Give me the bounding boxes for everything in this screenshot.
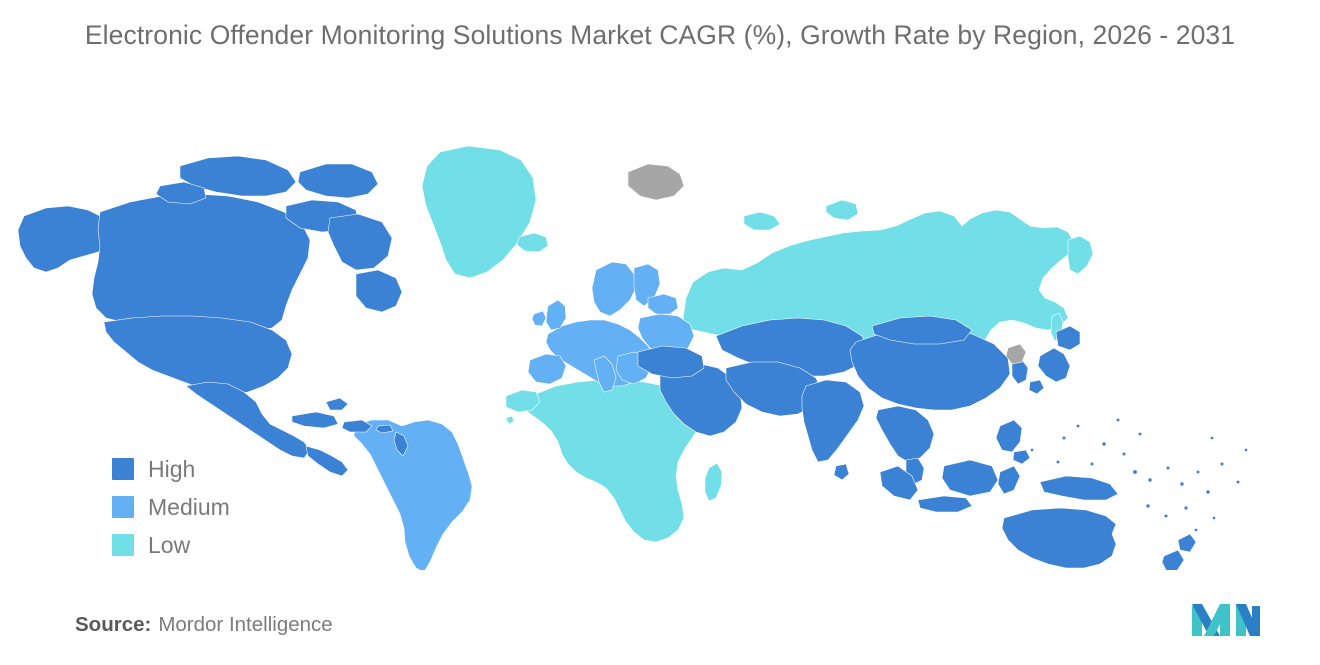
- page-title: Electronic Offender Monitoring Solutions…: [30, 14, 1290, 56]
- region-iberia: [528, 354, 566, 384]
- region-canada-arctic-2: [298, 164, 378, 198]
- legend-label-medium: Medium: [148, 496, 230, 519]
- region-russia-northisles: [744, 212, 780, 230]
- region-united-states: [104, 316, 292, 394]
- region-canada: [92, 194, 310, 330]
- region-canary-islands: [506, 416, 514, 424]
- region-canada-baffin: [328, 214, 392, 270]
- source-label: Source:: [75, 613, 151, 636]
- region-scandinavia: [592, 262, 636, 316]
- region-sulawesi: [998, 466, 1020, 494]
- region-new-zealand-south: [1162, 550, 1184, 570]
- region-russia-kamchatka: [1068, 236, 1093, 274]
- legend-item-high: High: [112, 450, 342, 488]
- region-madagascar: [705, 463, 722, 501]
- region-mexico: [186, 382, 310, 458]
- region-ireland: [532, 311, 546, 326]
- region-philippines-mindanao: [1013, 450, 1030, 464]
- region-canada-hudson-e: [356, 270, 402, 312]
- source-attribution: Source:Mordor Intelligence: [75, 613, 333, 637]
- region-india: [802, 380, 864, 462]
- region-new-guinea: [1040, 476, 1118, 500]
- region-greenland: [422, 146, 536, 278]
- region-japan-honshu: [1038, 348, 1070, 382]
- region-baltics: [648, 294, 678, 314]
- region-russia-novaya: [826, 200, 858, 220]
- region-new-zealand-north: [1178, 534, 1196, 552]
- region-sri-lanka: [834, 464, 849, 480]
- legend-label-high: High: [148, 458, 195, 481]
- region-south-america: [354, 420, 472, 570]
- region-australia: [1002, 508, 1116, 568]
- map-legend: High Medium Low: [112, 450, 342, 564]
- legend-label-low: Low: [148, 534, 190, 557]
- logo-svg: [1190, 598, 1262, 638]
- region-cuba: [292, 412, 338, 428]
- region-borneo: [942, 460, 998, 496]
- region-bahamas: [326, 398, 348, 410]
- mordor-intelligence-logo: [1190, 598, 1262, 638]
- region-japan-kyushu: [1029, 380, 1044, 394]
- region-svalbard: [628, 164, 684, 200]
- legend-item-low: Low: [112, 526, 342, 564]
- source-value: Mordor Intelligence: [158, 613, 332, 636]
- legend-swatch-low-icon: [112, 534, 134, 556]
- legend-swatch-medium-icon: [112, 496, 134, 518]
- region-java: [918, 496, 972, 512]
- legend-swatch-high-icon: [112, 458, 134, 480]
- legend-item-medium: Medium: [112, 488, 342, 526]
- region-philippines: [996, 420, 1022, 452]
- region-southeast-asia: [876, 406, 934, 462]
